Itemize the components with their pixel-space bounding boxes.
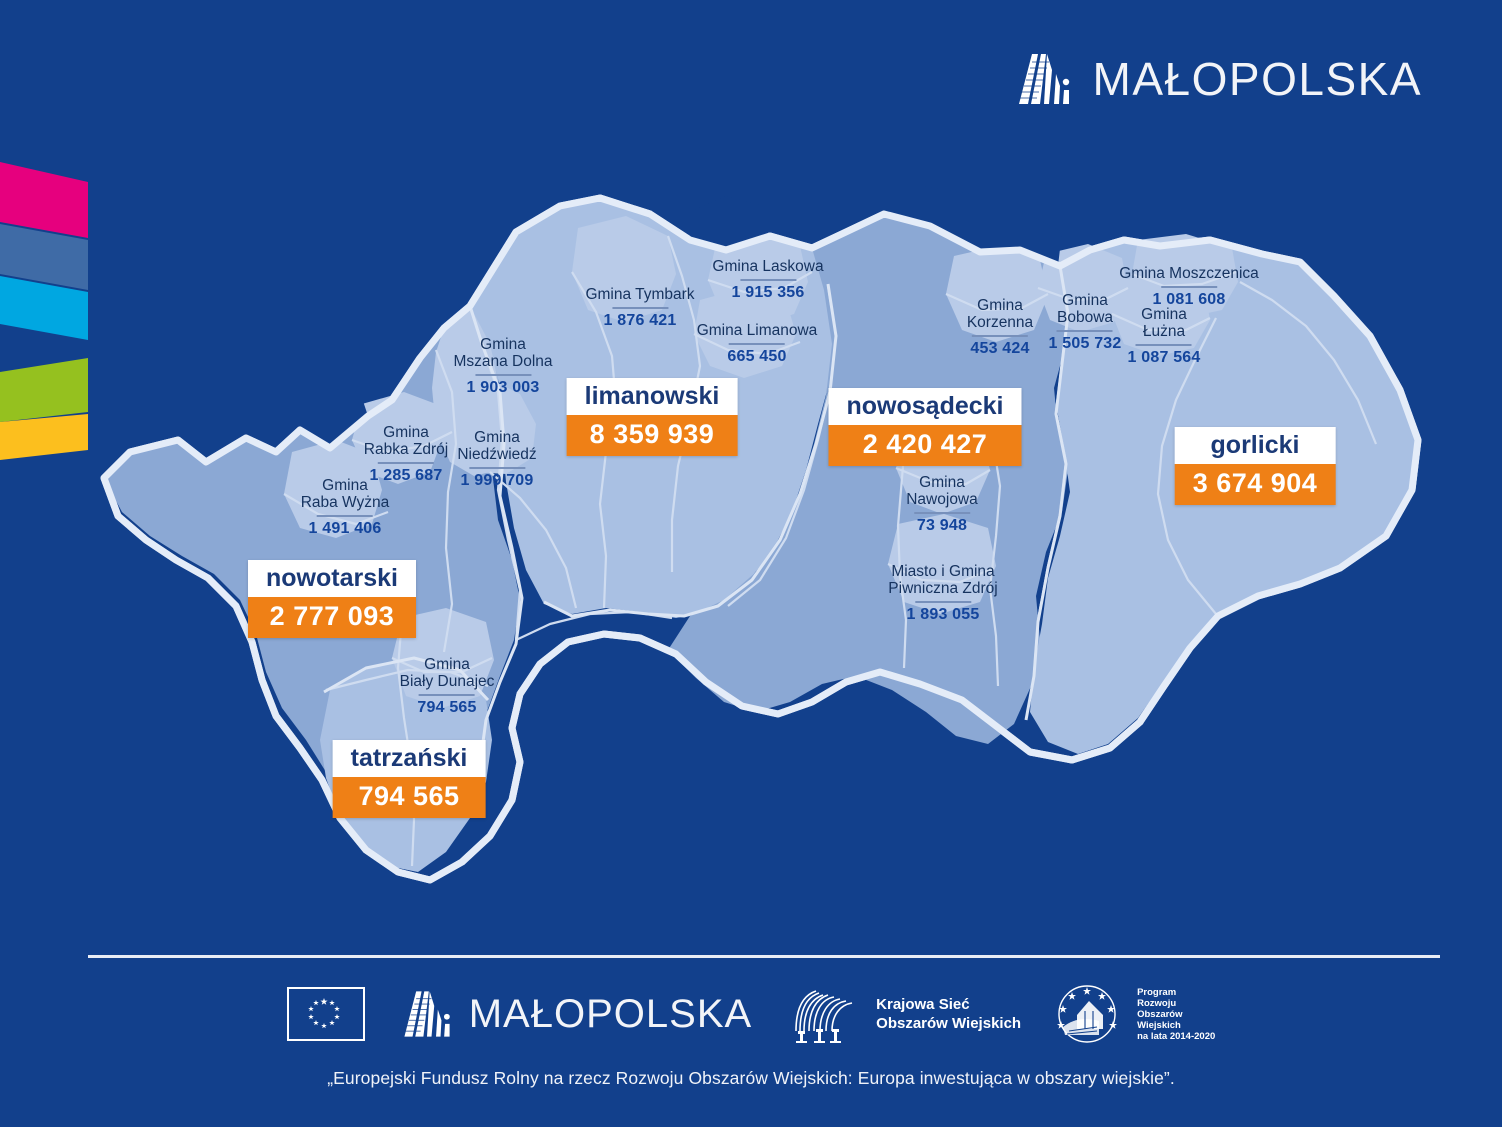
prow-line-5: na lata 2014-2020 — [1137, 1031, 1215, 1042]
district-badge-nowosadecki[interactable]: nowosądecki2 420 427 — [829, 388, 1022, 466]
district-badge-tatrzanski[interactable]: tatrzański794 565 — [333, 740, 486, 818]
district-name: gorlicki — [1175, 427, 1336, 464]
prow-line-4: Wiejskich — [1137, 1020, 1215, 1031]
prow-text: Program Rozwoju Obszarów Wiejskich na la… — [1137, 987, 1215, 1042]
prow-line-1: Program — [1137, 987, 1215, 998]
footer-logos-row: MAŁOPOLSKA — [0, 972, 1502, 1056]
map-container: .base { fill:#8ba8d4; } .lite { fill:#a9… — [0, 0, 1502, 930]
ksow-fan-icon — [786, 985, 862, 1043]
eu-stars-icon — [289, 989, 359, 1035]
footer: MAŁOPOLSKA — [0, 972, 1502, 1102]
district-value: 2 777 093 — [248, 597, 416, 637]
ksow-line-2: Obszarów Wiejskich — [876, 1014, 1021, 1033]
district-badge-limanowski[interactable]: limanowski8 359 939 — [567, 378, 738, 456]
gmina-shape-limanowa — [694, 288, 796, 378]
district-value: 794 565 — [333, 777, 486, 817]
prow-line-3: Obszarów — [1137, 1009, 1215, 1020]
gmina-shape-raba-wyzna — [284, 440, 382, 538]
infographic-root: MAŁOPOLSKA .base { fill:#8ba8d4; } .lite… — [0, 0, 1502, 1127]
prow-logo: Program Rozwoju Obszarów Wiejskich na la… — [1055, 983, 1215, 1045]
prow-emblem-icon — [1055, 983, 1123, 1045]
gmina-shape-korzenna — [946, 246, 1048, 342]
district-value: 3 674 904 — [1175, 464, 1336, 504]
funding-caption: „Europejski Fundusz Rolny na rzecz Rozwo… — [0, 1068, 1502, 1089]
ksow-line-1: Krajowa Sieć — [876, 995, 1021, 1014]
footer-divider — [88, 955, 1440, 958]
district-name: nowotarski — [248, 560, 416, 597]
district-name: nowosądecki — [829, 388, 1022, 425]
footer-brand: MAŁOPOLSKA — [399, 986, 752, 1042]
ksow-text: Krajowa Sieć Obszarów Wiejskich — [876, 995, 1021, 1033]
district-badge-gorlicki[interactable]: gorlicki3 674 904 — [1175, 427, 1336, 505]
district-name: tatrzański — [333, 740, 486, 777]
malopolska-m-mark-icon — [399, 986, 455, 1042]
prow-line-2: Rozwoju — [1137, 998, 1215, 1009]
footer-brand-text: MAŁOPOLSKA — [469, 994, 752, 1034]
district-badge-nowotarski[interactable]: nowotarski2 777 093 — [248, 560, 416, 638]
eu-flag-icon — [287, 987, 365, 1041]
ksow-logo: Krajowa Sieć Obszarów Wiejskich — [786, 985, 1021, 1043]
district-name: limanowski — [567, 378, 738, 415]
district-value: 2 420 427 — [829, 425, 1022, 465]
district-value: 8 359 939 — [567, 415, 738, 455]
